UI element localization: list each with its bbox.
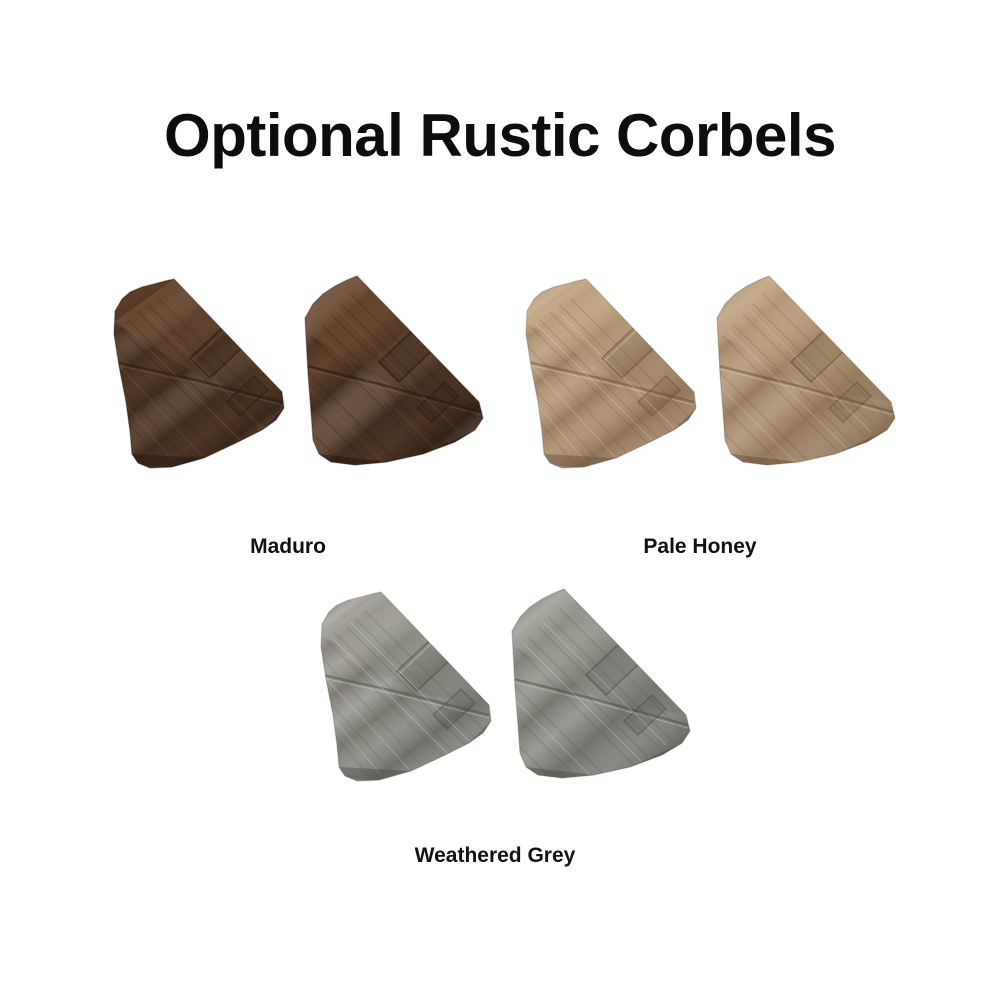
page-title: Optional Rustic Corbels: [0, 104, 1000, 168]
corbel-maduro-right: [283, 262, 498, 497]
corbel-maduro-left: [86, 262, 301, 497]
finish-label-pale-honey: Pale Honey: [490, 534, 910, 560]
finish-group-maduro: Maduro: [78, 262, 498, 562]
product-image-canvas: Optional Rustic Corbels: [0, 0, 1000, 1000]
corbel-pair-weathered-grey: [285, 575, 705, 810]
finish-group-pale-honey: Pale Honey: [490, 262, 910, 562]
corbel-pair-pale-honey: [490, 262, 910, 497]
corbel-weathered-grey-left: [293, 575, 508, 810]
corbel-pale-honey-right: [695, 262, 910, 497]
corbel-pair-maduro: [78, 262, 498, 497]
finish-label-maduro: Maduro: [78, 534, 498, 560]
finish-group-weathered-grey: Weathered Grey: [285, 575, 705, 875]
corbel-pale-honey-left: [498, 262, 713, 497]
finish-label-weathered-grey: Weathered Grey: [285, 843, 705, 869]
corbel-weathered-grey-right: [490, 575, 705, 810]
